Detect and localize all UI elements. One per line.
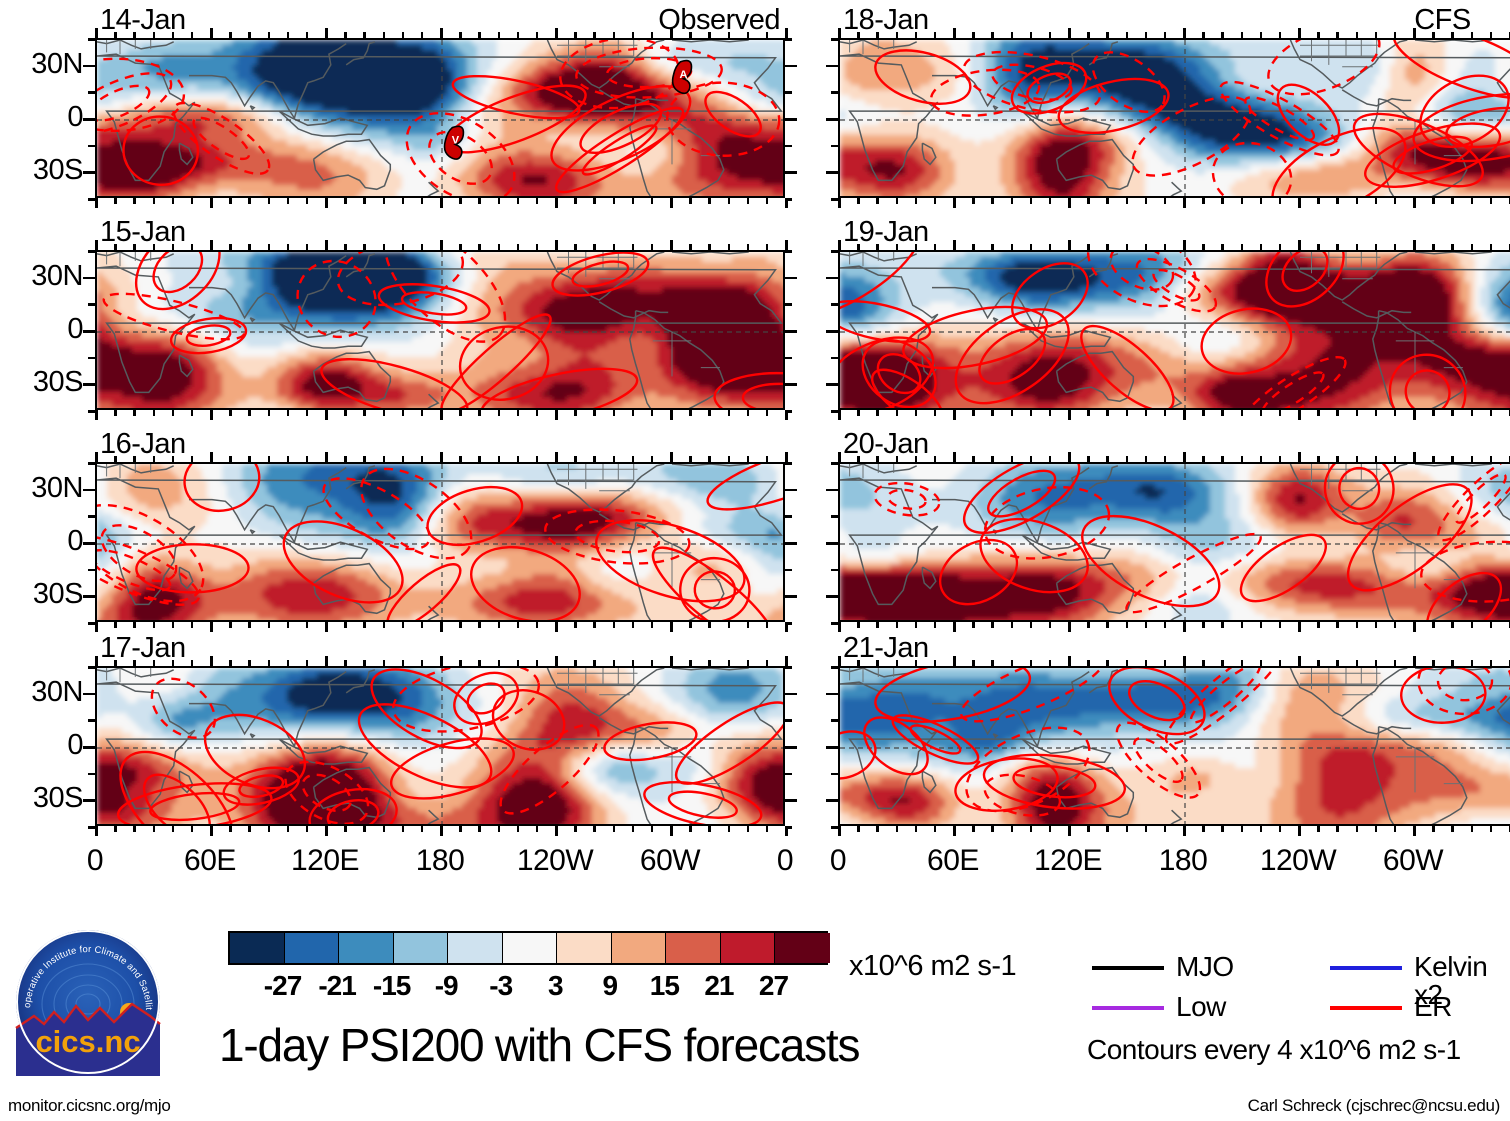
x-tick-bottom: [1298, 826, 1301, 836]
x-tick-bottom: [838, 826, 841, 836]
x-tick-top: [153, 32, 156, 38]
x-tick-bottom: [248, 410, 251, 416]
x-tick-top: [287, 244, 290, 250]
x-tick-bottom: [1030, 198, 1033, 204]
x-tick-top: [632, 660, 635, 666]
x-tick-bottom: [95, 622, 98, 632]
x-tick-top: [1164, 456, 1167, 462]
y-tick-right: [785, 250, 792, 253]
x-tick-top: [402, 456, 405, 462]
y-tick-left: [831, 91, 838, 94]
y-tick-left: [83, 489, 95, 492]
map-panel-p8[interactable]: [838, 666, 1510, 826]
x-tick-top: [1221, 660, 1224, 666]
x-tick-top: [651, 32, 654, 38]
x-tick-bottom: [670, 198, 673, 208]
x-tick-bottom: [915, 198, 918, 204]
x-tick-top: [953, 656, 956, 666]
panel-title-p5: 18-Jan: [843, 6, 929, 35]
x-tick-top: [728, 244, 731, 250]
colorbar-units-label: x10^6 m2 s-1: [849, 952, 1016, 981]
y-tick-left: [826, 693, 838, 696]
x-tick-bottom: [517, 622, 520, 628]
x-tick-top: [517, 244, 520, 250]
x-tick-top: [133, 456, 136, 462]
x-tick-top: [1298, 452, 1301, 462]
y-tick-left: [83, 383, 95, 386]
map-panel-p7[interactable]: [838, 462, 1510, 622]
x-tick-top: [838, 28, 841, 38]
x-tick-top: [857, 244, 860, 250]
x-tick-top: [1490, 660, 1493, 666]
x-tick-top: [876, 244, 879, 250]
x-tick-top: [728, 456, 731, 462]
x-tick-bottom: [1490, 622, 1493, 628]
x-tick-top: [383, 244, 386, 250]
x-tick-top: [114, 660, 117, 666]
x-tick-top: [325, 28, 328, 38]
x-tick-bottom: [133, 826, 136, 832]
x-tick-bottom: [1068, 198, 1071, 208]
x-tick-bottom: [172, 826, 175, 832]
y-tick-left: [83, 746, 95, 749]
y-tick-left: [88, 198, 95, 201]
x-tick-top: [440, 656, 443, 666]
x-tick-bottom: [747, 198, 750, 204]
panel-title-p6: 19-Jan: [843, 218, 929, 247]
y-tick-left: [83, 330, 95, 333]
x-tick-top: [459, 244, 462, 250]
x-tick-top: [613, 244, 616, 250]
x-tick-top: [670, 28, 673, 38]
x-tick-top: [1356, 456, 1359, 462]
x-tick-bottom: [1490, 826, 1493, 832]
panel-title-p7: 20-Jan: [843, 430, 929, 459]
x-tick-bottom: [1145, 410, 1148, 416]
x-tick-top: [1471, 456, 1474, 462]
x-tick-bottom: [896, 826, 899, 832]
x-tick-bottom: [1394, 410, 1397, 416]
x-tick-top: [172, 456, 175, 462]
x-tick-bottom: [1126, 410, 1129, 416]
panel-title-p2: 15-Jan: [100, 218, 186, 247]
x-tick-bottom: [114, 410, 117, 416]
x-tick-top: [478, 32, 481, 38]
x-tick-top: [1451, 244, 1454, 250]
y-tick-left: [831, 198, 838, 201]
x-tick-bottom: [1413, 410, 1416, 420]
x-tick-top: [1068, 28, 1071, 38]
x-tick-bottom: [325, 410, 328, 420]
x-tick-bottom: [478, 410, 481, 416]
x-tick-bottom: [1049, 198, 1052, 204]
x-tick-bottom: [229, 826, 232, 832]
x-tick-bottom: [1375, 622, 1378, 628]
x-tick-bottom: [632, 622, 635, 628]
x-tick-bottom: [402, 826, 405, 832]
x-tick-bottom: [1221, 198, 1224, 204]
filled-contours: [97, 252, 785, 410]
y-tick-left: [88, 145, 95, 148]
x-tick-bottom: [1451, 198, 1454, 204]
x-axis-label-5: 60W: [1353, 846, 1473, 876]
x-tick-top: [1164, 32, 1167, 38]
x-tick-bottom: [934, 198, 937, 204]
x-tick-top: [555, 28, 558, 38]
y-tick-right: [785, 569, 792, 572]
x-tick-bottom: [363, 198, 366, 204]
x-tick-top: [766, 456, 769, 462]
y-tick-left: [831, 462, 838, 465]
x-tick-bottom: [1241, 826, 1244, 832]
x-tick-top: [555, 452, 558, 462]
x-tick-top: [991, 456, 994, 462]
x-tick-bottom: [574, 198, 577, 204]
x-tick-top: [915, 32, 918, 38]
x-tick-top: [248, 32, 251, 38]
x-tick-bottom: [1471, 198, 1474, 204]
y-tick-left: [88, 91, 95, 94]
x-tick-top: [1317, 32, 1320, 38]
x-tick-top: [574, 244, 577, 250]
x-tick-top: [915, 244, 918, 250]
x-tick-bottom: [1087, 622, 1090, 628]
x-tick-top: [421, 32, 424, 38]
x-tick-top: [1126, 660, 1129, 666]
x-tick-top: [1183, 656, 1186, 666]
x-tick-top: [972, 456, 975, 462]
x-tick-bottom: [172, 622, 175, 628]
x-tick-top: [689, 456, 692, 462]
y-tick-left: [83, 277, 95, 280]
x-tick-top: [210, 656, 213, 666]
x-tick-top: [1068, 656, 1071, 666]
x-tick-bottom: [1356, 826, 1359, 832]
map-panel-p5[interactable]: [838, 38, 1510, 198]
x-tick-top: [1375, 456, 1378, 462]
x-tick-bottom: [383, 826, 386, 832]
x-tick-bottom: [1183, 410, 1186, 420]
x-tick-bottom: [766, 622, 769, 628]
y-tick-right: [785, 462, 792, 465]
x-tick-top: [1049, 32, 1052, 38]
x-tick-top: [708, 456, 711, 462]
x-tick-bottom: [153, 410, 156, 416]
x-tick-bottom: [287, 826, 290, 832]
y-axis-label-30n: 30N: [0, 50, 83, 79]
y-tick-left: [88, 462, 95, 465]
x-tick-top: [632, 456, 635, 462]
colorbar-tick-9: 27: [733, 972, 813, 1000]
x-axis-label-6: 0: [1468, 846, 1510, 876]
x-tick-top: [306, 660, 309, 666]
x-tick-top: [574, 32, 577, 38]
x-tick-top: [517, 32, 520, 38]
x-tick-bottom: [1011, 622, 1014, 628]
x-tick-bottom: [95, 410, 98, 420]
x-tick-top: [1241, 244, 1244, 250]
x-tick-bottom: [1298, 198, 1301, 208]
x-tick-bottom: [1279, 198, 1282, 204]
x-tick-bottom: [229, 410, 232, 416]
x-tick-bottom: [876, 410, 879, 416]
y-tick-left: [831, 515, 838, 518]
x-tick-bottom: [114, 198, 117, 204]
x-tick-bottom: [1049, 622, 1052, 628]
x-tick-top: [114, 32, 117, 38]
x-tick-top: [325, 240, 328, 250]
x-tick-top: [478, 244, 481, 250]
colorbar-segment-0: [230, 933, 285, 963]
x-tick-bottom: [670, 826, 673, 836]
x-tick-top: [972, 244, 975, 250]
x-tick-bottom: [1279, 410, 1282, 416]
x-tick-bottom: [651, 622, 654, 628]
x-tick-top: [915, 660, 918, 666]
x-tick-top: [536, 32, 539, 38]
x-tick-top: [1413, 452, 1416, 462]
x-tick-bottom: [1432, 410, 1435, 416]
x-tick-top: [1145, 32, 1148, 38]
x-tick-bottom: [991, 410, 994, 416]
y-axis-label-30n: 30N: [0, 262, 83, 291]
x-tick-top: [593, 244, 596, 250]
x-tick-top: [268, 456, 271, 462]
y-tick-left: [831, 569, 838, 572]
x-tick-bottom: [325, 826, 328, 836]
x-tick-top: [785, 240, 788, 250]
map-render: [840, 40, 1510, 198]
x-tick-bottom: [555, 198, 558, 208]
x-tick-bottom: [1279, 622, 1282, 628]
x-tick-top: [1451, 456, 1454, 462]
y-tick-right: [785, 118, 797, 121]
x-tick-top: [1030, 660, 1033, 666]
y-tick-left: [831, 719, 838, 722]
x-tick-bottom: [574, 826, 577, 832]
y-axis-label-30s: 30S: [0, 156, 83, 185]
cicsnc-logo: Cooperative Institute for Climate and Sa…: [14, 928, 162, 1076]
x-tick-top: [1183, 452, 1186, 462]
map-render: VA: [97, 40, 785, 198]
x-tick-top: [953, 28, 956, 38]
y-tick-left: [831, 622, 838, 625]
colorbar-segment-7: [612, 933, 667, 963]
x-tick-bottom: [574, 410, 577, 416]
x-tick-top: [1106, 32, 1109, 38]
x-tick-bottom: [708, 410, 711, 416]
x-tick-bottom: [1317, 826, 1320, 832]
x-tick-bottom: [1183, 622, 1186, 632]
y-tick-left: [826, 118, 838, 121]
x-tick-bottom: [248, 198, 251, 204]
colorbar-segment-2: [339, 933, 394, 963]
x-tick-bottom: [838, 198, 841, 208]
x-tick-bottom: [1183, 826, 1186, 836]
x-tick-bottom: [1145, 622, 1148, 628]
x-tick-bottom: [1260, 622, 1263, 628]
x-tick-top: [896, 660, 899, 666]
x-tick-bottom: [536, 410, 539, 416]
x-tick-bottom: [838, 622, 841, 632]
x-tick-bottom: [1164, 410, 1167, 416]
x-tick-bottom: [440, 410, 443, 420]
x-tick-bottom: [210, 410, 213, 420]
x-tick-bottom: [934, 410, 937, 416]
x-tick-bottom: [728, 826, 731, 832]
x-tick-bottom: [1241, 622, 1244, 628]
x-tick-top: [229, 660, 232, 666]
x-tick-bottom: [498, 198, 501, 204]
x-tick-bottom: [306, 622, 309, 628]
x-tick-bottom: [670, 622, 673, 632]
x-tick-bottom: [632, 826, 635, 832]
y-tick-left: [88, 666, 95, 669]
x-tick-top: [1298, 240, 1301, 250]
map-panel-p6[interactable]: [838, 250, 1510, 410]
x-tick-top: [747, 660, 750, 666]
x-tick-top: [1087, 456, 1090, 462]
y-tick-left: [88, 826, 95, 829]
x-tick-top: [1126, 244, 1129, 250]
footer-author: Carl Schreck (cjschrec@ncsu.edu): [1248, 1097, 1500, 1114]
x-tick-bottom: [972, 622, 975, 628]
x-tick-top: [383, 660, 386, 666]
x-tick-top: [838, 656, 841, 666]
x-tick-bottom: [133, 410, 136, 416]
x-tick-bottom: [229, 198, 232, 204]
x-tick-bottom: [1490, 198, 1493, 204]
x-tick-bottom: [325, 198, 328, 208]
x-tick-bottom: [857, 622, 860, 628]
y-tick-right: [785, 91, 792, 94]
x-tick-top: [344, 244, 347, 250]
x-tick-top: [210, 452, 213, 462]
x-tick-top: [153, 456, 156, 462]
footer-url[interactable]: monitor.cicsnc.org/mjo: [8, 1097, 171, 1114]
x-tick-bottom: [306, 198, 309, 204]
x-tick-top: [1432, 660, 1435, 666]
x-tick-bottom: [402, 622, 405, 628]
x-tick-top: [1432, 456, 1435, 462]
y-tick-left: [831, 410, 838, 413]
x-tick-top: [95, 28, 98, 38]
x-tick-bottom: [344, 198, 347, 204]
x-tick-bottom: [421, 198, 424, 204]
y-tick-left: [83, 595, 95, 598]
x-tick-top: [1375, 32, 1378, 38]
map-panel-p2[interactable]: [95, 250, 785, 410]
x-tick-bottom: [896, 622, 899, 628]
x-tick-top: [1394, 244, 1397, 250]
y-tick-right: [785, 489, 797, 492]
x-tick-top: [1183, 240, 1186, 250]
y-tick-left: [826, 595, 838, 598]
x-tick-bottom: [402, 410, 405, 416]
x-tick-bottom: [229, 622, 232, 628]
x-tick-top: [1011, 32, 1014, 38]
y-axis-label-30n: 30N: [0, 678, 83, 707]
x-tick-bottom: [1087, 410, 1090, 416]
x-tick-bottom: [747, 622, 750, 628]
map-panel-p4[interactable]: [95, 666, 785, 826]
x-tick-bottom: [421, 622, 424, 628]
logo-svg: Cooperative Institute for Climate and Sa…: [14, 928, 162, 1076]
x-tick-top: [785, 656, 788, 666]
map-render: [97, 252, 785, 410]
x-tick-top: [191, 244, 194, 250]
x-tick-top: [1394, 660, 1397, 666]
x-tick-top: [1413, 656, 1416, 666]
x-tick-bottom: [1126, 622, 1129, 628]
x-tick-bottom: [613, 826, 616, 832]
x-tick-top: [325, 656, 328, 666]
x-tick-top: [1106, 660, 1109, 666]
y-tick-right: [785, 410, 792, 413]
x-tick-top: [383, 32, 386, 38]
x-tick-bottom: [478, 622, 481, 628]
x-tick-bottom: [1471, 826, 1474, 832]
x-tick-bottom: [896, 410, 899, 416]
x-tick-bottom: [268, 410, 271, 416]
x-tick-top: [287, 32, 290, 38]
x-tick-bottom: [517, 826, 520, 832]
x-tick-bottom: [838, 410, 841, 420]
x-tick-bottom: [1106, 622, 1109, 628]
map-render: [840, 464, 1510, 622]
x-tick-bottom: [876, 622, 879, 628]
x-tick-top: [421, 244, 424, 250]
y-tick-right: [785, 277, 797, 280]
x-tick-top: [1145, 244, 1148, 250]
x-tick-top: [555, 240, 558, 250]
x-tick-bottom: [1298, 410, 1301, 420]
x-axis-label-2: 120E: [1008, 846, 1128, 876]
x-tick-bottom: [1317, 198, 1320, 204]
x-tick-top: [1260, 244, 1263, 250]
x-tick-bottom: [1451, 826, 1454, 832]
x-tick-top: [95, 452, 98, 462]
x-tick-top: [896, 244, 899, 250]
x-tick-top: [689, 244, 692, 250]
x-tick-top: [1394, 456, 1397, 462]
x-tick-top: [191, 32, 194, 38]
x-tick-bottom: [1106, 198, 1109, 204]
x-tick-bottom: [1356, 198, 1359, 204]
colorbar-segment-8: [666, 933, 721, 963]
x-tick-bottom: [172, 410, 175, 416]
x-tick-top: [876, 660, 879, 666]
x-tick-bottom: [991, 826, 994, 832]
map-panel-p1[interactable]: VA: [95, 38, 785, 198]
x-tick-top: [402, 660, 405, 666]
x-tick-top: [747, 244, 750, 250]
x-axis-label-1: 60E: [150, 846, 270, 876]
x-tick-top: [1087, 32, 1090, 38]
x-tick-bottom: [876, 826, 879, 832]
map-panel-p3[interactable]: [95, 462, 785, 622]
map-render: [97, 668, 785, 826]
y-tick-right: [785, 198, 792, 201]
x-tick-bottom: [876, 198, 879, 204]
x-tick-bottom: [383, 198, 386, 204]
x-tick-top: [728, 32, 731, 38]
y-tick-right: [785, 622, 792, 625]
x-tick-bottom: [1375, 198, 1378, 204]
x-tick-bottom: [287, 622, 290, 628]
x-tick-bottom: [1356, 622, 1359, 628]
panel-title-p4: 17-Jan: [100, 634, 186, 663]
